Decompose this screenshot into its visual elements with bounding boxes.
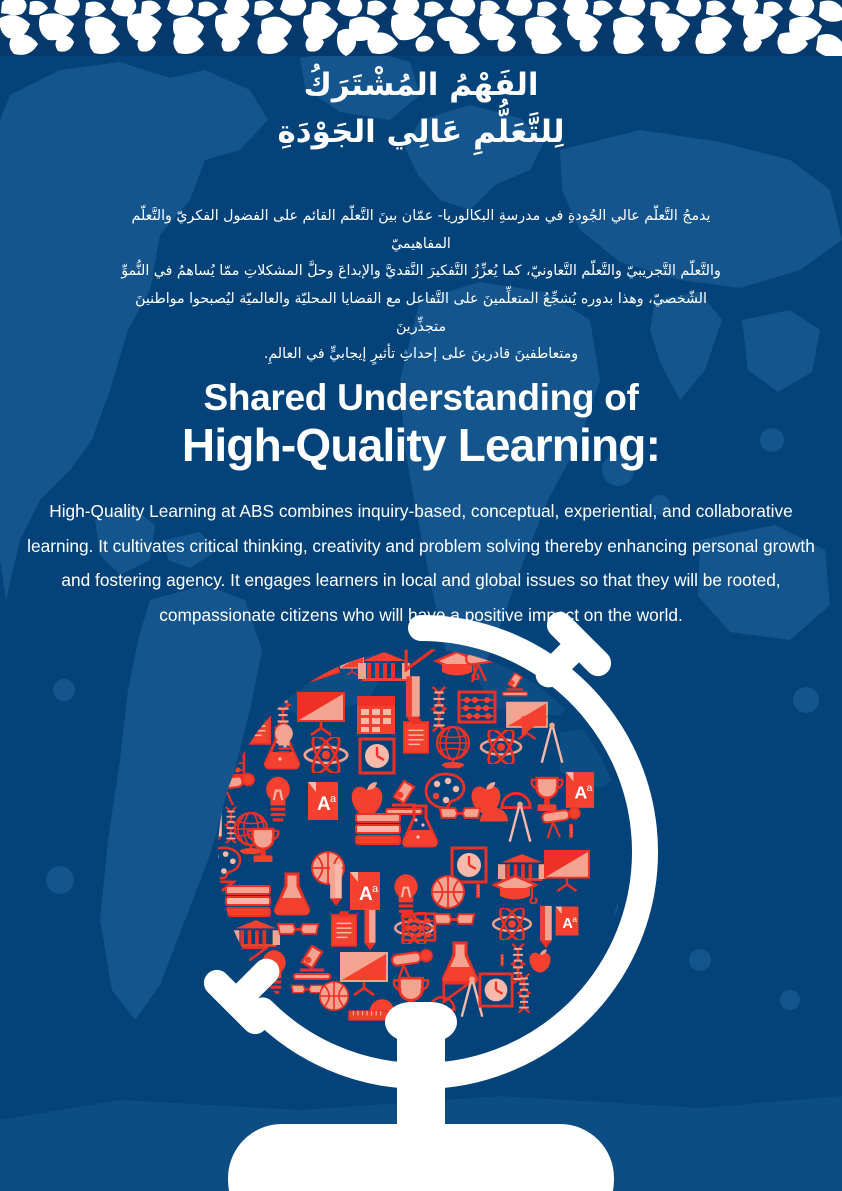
arabic-title-line-1: الفَهْمُ المُشْتَرَكُ xyxy=(71,62,771,109)
arabic-body-line-3: الشّخصيّ، وهذا بدوره يُشجِّعُ المتعلِّمي… xyxy=(112,286,730,341)
english-heading-line-1: Shared Understanding of xyxy=(0,378,842,418)
poster-canvas: A a xyxy=(0,0,842,1191)
arabic-title: الفَهْمُ المُشْتَرَكُ لِلتَّعَلُّمِ عَال… xyxy=(71,62,771,156)
arabic-body-text: يدمجُ التَّعلّم عالي الجُودةِ في مدرسةِ … xyxy=(112,203,730,369)
arabic-body-line-4: ومتعاطفينَ قادرينَ على إحداثِ تأثيرٍ إيج… xyxy=(112,341,730,369)
arabic-body-line-2: والتَّعلّم التَّجريبيّ والتَّعلّم التَّع… xyxy=(112,258,730,286)
english-heading-line-2: High-Quality Learning: xyxy=(0,418,842,472)
arabic-title-line-2: لِلتَّعَلُّمِ عَالِي الجَوْدَةِ xyxy=(71,109,771,156)
english-heading: Shared Understanding of High-Quality Lea… xyxy=(0,378,842,472)
arabic-body-line-1: يدمجُ التَّعلّم عالي الجُودةِ في مدرسةِ … xyxy=(112,203,730,258)
english-body-text: High-Quality Learning at ABS combines in… xyxy=(26,494,816,632)
poster-content: الفَهْمُ المُشْتَرَكُ لِلتَّعَلُّمِ عَال… xyxy=(0,0,842,1191)
